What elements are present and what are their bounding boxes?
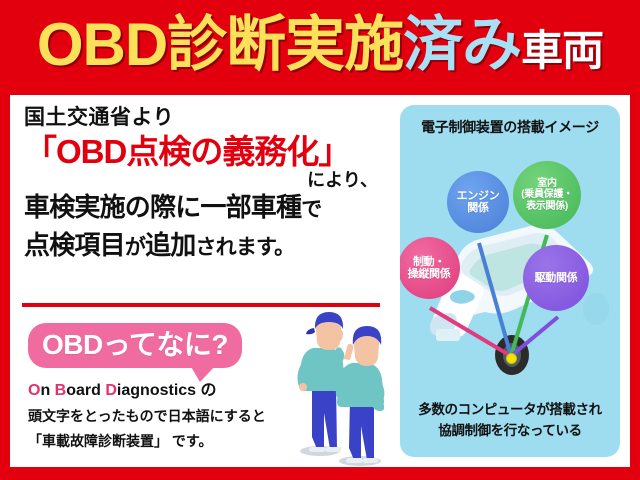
circle-engine-line2: 関係 xyxy=(467,202,488,214)
person-b-shoe-right xyxy=(362,458,379,463)
notice-line4-main: 点検項目 xyxy=(24,230,125,260)
obd-inspection-banner: OBD 診断実施 済み 車両 国土交通省より 「OBD点検の義務化」 により、 … xyxy=(0,0,640,480)
notice-line4-mid: が xyxy=(125,236,145,259)
person-a-legs xyxy=(312,383,337,449)
obd-jp-line-1: 頭文字をとったもので日本語にすると xyxy=(28,406,280,427)
person-a-shoe-right xyxy=(325,447,342,452)
circle-interior-label: 室内(乗員保護・表示関係) xyxy=(521,178,573,212)
notice-line4-tail: されます。 xyxy=(195,236,294,259)
circle-engine-line1: エンジン xyxy=(457,190,500,202)
person-b xyxy=(336,326,385,463)
obd-explainer: OBDってなに? On Board Diagnostics の 頭文字をとったも… xyxy=(28,323,280,452)
circle-interior-line1: 室内 xyxy=(537,178,556,189)
diagram-caption-line-2: 協調制御を行なっている xyxy=(400,420,620,441)
notice-block: 国土交通省より 「OBD点検の義務化」 により、 車検実施の際に一部車種で 点検… xyxy=(24,105,382,264)
circle-engine-label: エンジン関係 xyxy=(457,190,500,215)
notice-emphasis: 「OBD点検の義務化」 xyxy=(24,132,382,172)
obd-en-n: n xyxy=(40,382,54,399)
notice-line-ministry: 国土交通省より xyxy=(24,105,382,131)
obd-en-oard: oard xyxy=(66,382,105,399)
obd-question-label: OBDってなに? xyxy=(42,329,228,360)
circle-brake-label: 制動・操縦関係 xyxy=(408,256,451,281)
circle-interior-line3: 表示関係) xyxy=(526,201,568,212)
diagram-caption: 多数のコンピュータが搭載され 協調制御を行なっている xyxy=(400,399,620,441)
notice-line-items: 点検項目が追加されます。 xyxy=(24,229,382,264)
header-title-obd: OBD xyxy=(37,14,167,76)
circle-brake-line1: 制動・ xyxy=(413,256,445,268)
circle-brake-line2: 操縦関係 xyxy=(408,268,451,280)
person-a-hand-left xyxy=(299,383,307,391)
person-b-shoe-left xyxy=(346,458,363,463)
circle-engine: エンジン関係 xyxy=(447,171,509,233)
obd-english-expansion: On Board Diagnostics の xyxy=(28,380,280,402)
obd-en-d: D xyxy=(105,382,117,399)
content-card: 国土交通省より 「OBD点検の義務化」 により、 車検実施の際に一部車種で 点検… xyxy=(10,95,630,467)
obd-en-iagnostics: iagnostics xyxy=(117,382,201,399)
obd-jp-line-2: 「車載故障診断装置」 です。 xyxy=(28,431,280,452)
obd-en-no: の xyxy=(201,382,217,399)
obd-en-b: B xyxy=(55,382,67,399)
circle-interior-line2: (乗員保護・ xyxy=(521,189,573,200)
speech-bubble-tail-icon xyxy=(190,365,216,382)
notice-line4-main2: 追加 xyxy=(145,230,195,260)
obd-question-bubble: OBDってなに? xyxy=(28,323,242,368)
person-b-raised-hand xyxy=(343,344,353,360)
person-a-arm-right xyxy=(335,347,344,362)
obd-explainer-body: On Board Diagnostics の 頭文字をとったもので日本語にすると… xyxy=(28,380,280,452)
person-a-shoe-left xyxy=(309,447,326,452)
left-column: 国土交通省より 「OBD点検の義務化」 により、 車検実施の際に一部車種で 点検… xyxy=(10,95,392,467)
ecu-hub-node-icon xyxy=(506,353,517,364)
circle-drive: 駆動関係 xyxy=(523,245,589,311)
diagram-title: 電子制御装置の搭載イメージ xyxy=(400,117,620,137)
person-a xyxy=(298,312,346,452)
circle-drive-label: 駆動関係 xyxy=(535,272,578,284)
header-title-sumi: 済み xyxy=(403,14,521,76)
diagram-caption-line-1: 多数のコンピュータが搭載され xyxy=(400,399,620,420)
header-title: OBD 診断実施 済み 車両 xyxy=(37,14,603,82)
notice-line3-tail: で xyxy=(301,198,321,221)
person-b-legs xyxy=(349,398,374,460)
circle-interior: 室内(乗員保護・表示関係) xyxy=(513,161,581,229)
circle-brake: 制動・操縦関係 xyxy=(400,237,460,299)
person-a-cap-brim xyxy=(306,328,315,334)
notice-niyori: により、 xyxy=(24,170,382,190)
ecu-diagram-panel: 電子制御装置の搭載イメージ xyxy=(400,105,620,457)
header-title-sharyou: 車両 xyxy=(521,20,603,82)
obd-en-o: O xyxy=(28,382,40,399)
header-title-shindan: 診断実施 xyxy=(167,14,403,76)
banner-header: OBD 診断実施 済み 車両 xyxy=(0,0,640,95)
notice-line-inspection: 車検実施の際に一部車種で xyxy=(24,191,382,226)
two-people-illustration xyxy=(286,303,396,467)
notice-line3-main: 車検実施の際に一部車種 xyxy=(24,192,301,222)
